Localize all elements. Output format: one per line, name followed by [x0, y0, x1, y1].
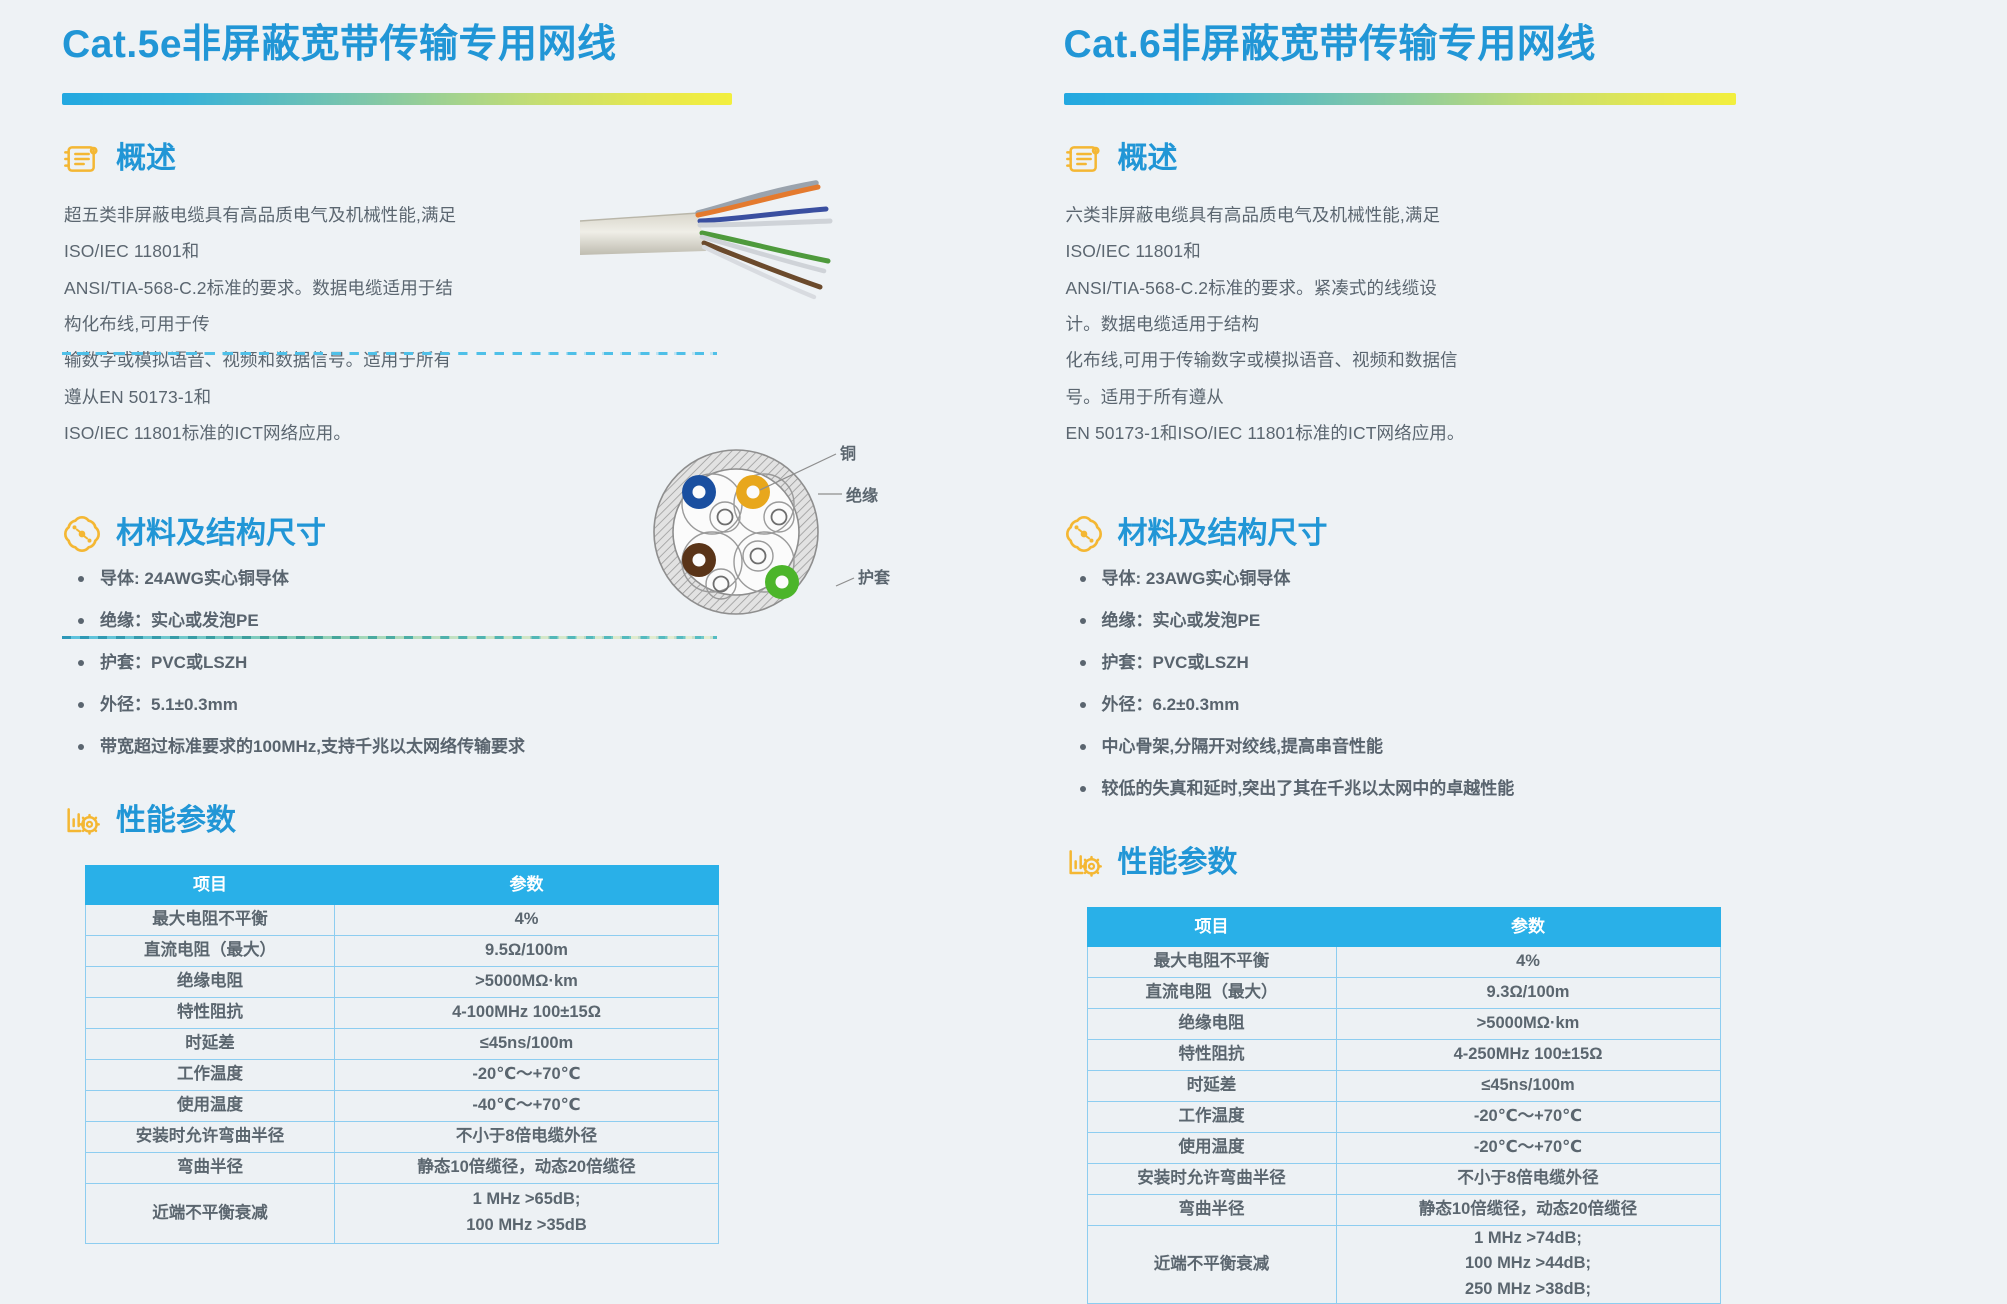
cell-item: 最大电阻不平衡 — [86, 904, 335, 935]
cell-value: 4% — [1336, 946, 1720, 977]
table-row: 工作温度 -20℃〜+70℃ — [86, 1059, 719, 1090]
cell-item: 使用温度 — [86, 1090, 335, 1121]
table-header-row: 项目 参数 — [86, 865, 719, 904]
molecule-icon — [62, 514, 102, 554]
cell-item: 直流电阻（最大） — [86, 935, 335, 966]
overview-line: ANSI/TIA-568-C.2标准的要求。数据电缆适用于结构化布线,可用于传 — [64, 270, 464, 343]
table-row: 弯曲半径 静态10倍缆径，动态20倍缆径 — [1087, 1194, 1720, 1225]
cell-item: 工作温度 — [86, 1059, 335, 1090]
list-item: 护套：PVC或LSZH — [1076, 654, 1968, 671]
cell-value: 1 MHz >65dB; 100 MHz >35dB — [335, 1183, 719, 1243]
cell-item: 时延差 — [86, 1028, 335, 1059]
overview-line: 超五类非屏蔽电缆具有高品质电气及机械性能,满足ISO/IEC 11801和 — [64, 197, 464, 270]
materials-title: 材料及结构尺寸 — [1118, 519, 1328, 549]
cell-value: 4-250MHz 100±15Ω — [1336, 1039, 1720, 1070]
overview-heading-row: 概述 — [1064, 139, 1968, 179]
cell-item: 弯曲半径 — [86, 1152, 335, 1183]
table-row: 直流电阻（最大） 9.5Ω/100m — [86, 935, 719, 966]
cell-value: 不小于8倍电缆外径 — [1336, 1163, 1720, 1194]
materials-section-cat6: 材料及结构尺寸 导体: 23AWG实心铜导体 绝缘：实心或发泡PE 护套：PVC… — [1064, 514, 1968, 797]
cell-item: 绝缘电阻 — [86, 966, 335, 997]
table-row: 特性阻抗 4-250MHz 100±15Ω — [1087, 1039, 1720, 1070]
section-divider-2 — [62, 636, 717, 639]
cell-value: 4% — [335, 904, 719, 935]
page-title-cat6: Cat.6非屏蔽宽带传输专用网线 — [1064, 22, 1968, 69]
cell-item: 特性阻抗 — [1087, 1039, 1336, 1070]
table-row: 使用温度 -20℃〜+70℃ — [1087, 1132, 1720, 1163]
cell-value-line: 250 MHz >38dB; — [1337, 1277, 1720, 1303]
table-row: 最大电阻不平衡 4% — [1087, 946, 1720, 977]
page-title-cat5e: Cat.5e非屏蔽宽带传输专用网线 — [62, 22, 964, 69]
overview-line: EN 50173-1和ISO/IEC 11801标准的ICT网络应用。 — [1066, 415, 1470, 451]
cell-value: -40℃〜+70℃ — [335, 1090, 719, 1121]
materials-bullet-list-cat6: 导体: 23AWG实心铜导体 绝缘：实心或发泡PE 护套：PVC或LSZH 外径… — [1076, 570, 1968, 797]
table-row: 时延差 ≤45ns/100m — [86, 1028, 719, 1059]
table-row: 绝缘电阻 >5000MΩ·km — [86, 966, 719, 997]
cell-value: 9.3Ω/100m — [1336, 977, 1720, 1008]
table-row: 近端不平衡衰减 1 MHz >65dB; 100 MHz >35dB — [86, 1183, 719, 1243]
materials-title: 材料及结构尺寸 — [116, 519, 326, 549]
cell-value: 1 MHz >74dB; 100 MHz >44dB; 250 MHz >38d… — [1336, 1225, 1720, 1303]
table-row: 绝缘电阻 >5000MΩ·km — [1087, 1008, 1720, 1039]
column-header-item: 项目 — [1087, 907, 1336, 946]
column-header-value: 参数 — [335, 865, 719, 904]
performance-heading-row: 性能参数 — [1064, 843, 1968, 883]
list-item: 绝缘：实心或发泡PE — [1076, 612, 1968, 629]
cell-value: ≤45ns/100m — [335, 1028, 719, 1059]
list-item: 较低的失真和延时,突出了其在千兆以太网中的卓越性能 — [1076, 780, 1968, 797]
cell-value: -20℃〜+70℃ — [1336, 1132, 1720, 1163]
cell-item: 直流电阻（最大） — [1087, 977, 1336, 1008]
overview-line: 化布线,可用于传输数字或模拟语音、视频和数据信号。适用于所有遵从 — [1066, 342, 1470, 415]
cell-item: 安装时允许弯曲半径 — [1087, 1163, 1336, 1194]
cell-value: ≤45ns/100m — [1336, 1070, 1720, 1101]
product-panel-cat6: Cat.6非屏蔽宽带传输专用网线 概述 六类非屏蔽电缆具有高品质电气及机械性能,… — [1004, 0, 2007, 1240]
cell-value: 不小于8倍电缆外径 — [335, 1121, 719, 1152]
chart-gear-icon — [62, 801, 102, 841]
spec-table-cat5e: 项目 参数 最大电阻不平衡 4% 直流电阻（最大） 9.5Ω/100m 绝缘电阻 — [85, 865, 719, 1244]
cell-item: 弯曲半径 — [1087, 1194, 1336, 1225]
cell-value: -20℃〜+70℃ — [1336, 1101, 1720, 1132]
cat5e-cross-section: 铜 绝缘 护套 — [640, 432, 940, 632]
datasheet-page: Cat.5e非屏蔽宽带传输专用网线 概述 超五类非屏蔽电缆具有高品质电气及机械性… — [0, 0, 2007, 1240]
list-item: 带宽超过标准要求的100MHz,支持千兆以太网络传输要求 — [74, 738, 964, 755]
label-jacket: 护套 — [858, 564, 890, 588]
table-row: 特性阻抗 4-100MHz 100±15Ω — [86, 997, 719, 1028]
title-gradient-rule — [62, 93, 732, 105]
cell-item: 安装时允许弯曲半径 — [86, 1121, 335, 1152]
overview-heading-row: 概述 — [62, 139, 964, 179]
performance-section-cat5e: 性能参数 项目 参数 最大电阻不平衡 4% 直流电阻（最大） — [62, 801, 964, 1244]
column-header-item: 项目 — [86, 865, 335, 904]
cell-value-line: 1 MHz >65dB; — [335, 1187, 718, 1213]
table-row: 直流电阻（最大） 9.3Ω/100m — [1087, 977, 1720, 1008]
performance-title: 性能参数 — [1118, 848, 1238, 878]
list-item: 外径：5.1±0.3mm — [74, 696, 964, 713]
cat5e-cable-photo — [580, 175, 900, 315]
cell-value-line: 1 MHz >74dB; — [1337, 1226, 1720, 1252]
table-header-row: 项目 参数 — [1087, 907, 1720, 946]
cell-value-line: 100 MHz >44dB; — [1337, 1251, 1720, 1277]
title-gradient-rule — [1064, 93, 1736, 105]
cell-item: 绝缘电阻 — [1087, 1008, 1336, 1039]
cell-value: 4-100MHz 100±15Ω — [335, 997, 719, 1028]
overview-paragraph-cat5e: 超五类非屏蔽电缆具有高品质电气及机械性能,满足ISO/IEC 11801和 AN… — [64, 197, 464, 452]
cell-item: 近端不平衡衰减 — [86, 1183, 335, 1243]
overview-line: ANSI/TIA-568-C.2标准的要求。紧凑式的线缆设计。数据电缆适用于结构 — [1066, 270, 1470, 343]
section-divider-1 — [62, 352, 717, 355]
document-list-icon — [62, 139, 102, 179]
cell-item: 工作温度 — [1087, 1101, 1336, 1132]
table-row: 工作温度 -20℃〜+70℃ — [1087, 1101, 1720, 1132]
cell-value: 9.5Ω/100m — [335, 935, 719, 966]
list-item: 中心骨架,分隔开对绞线,提高串音性能 — [1076, 738, 1968, 755]
overview-line: ISO/IEC 11801标准的ICT网络应用。 — [64, 415, 464, 451]
table-row: 近端不平衡衰减 1 MHz >74dB; 100 MHz >44dB; 250 … — [1087, 1225, 1720, 1303]
spec-table-cat6: 项目 参数 最大电阻不平衡 4% 直流电阻（最大） 9.3Ω/100m 绝缘电阻 — [1087, 907, 1721, 1304]
performance-section-cat6: 性能参数 项目 参数 最大电阻不平衡 4% 直流电阻（最大） — [1064, 843, 1968, 1304]
table-row: 使用温度 -40℃〜+70℃ — [86, 1090, 719, 1121]
overview-title: 概述 — [1118, 144, 1178, 174]
cell-value: 静态10倍缆径，动态20倍缆径 — [1336, 1194, 1720, 1225]
column-header-value: 参数 — [1336, 907, 1720, 946]
overview-title: 概述 — [116, 144, 176, 174]
cell-value: 静态10倍缆径，动态20倍缆径 — [335, 1152, 719, 1183]
cell-value-line: 100 MHz >35dB — [335, 1213, 718, 1239]
table-row: 最大电阻不平衡 4% — [86, 904, 719, 935]
cell-value: -20℃〜+70℃ — [335, 1059, 719, 1090]
cell-item: 最大电阻不平衡 — [1087, 946, 1336, 977]
label-insulation: 绝缘 — [846, 482, 878, 506]
cell-item: 特性阻抗 — [86, 997, 335, 1028]
list-item: 导体: 23AWG实心铜导体 — [1076, 570, 1968, 587]
overview-line: 六类非屏蔽电缆具有高品质电气及机械性能,满足ISO/IEC 11801和 — [1066, 197, 1470, 270]
table-row: 安装时允许弯曲半径 不小于8倍电缆外径 — [1087, 1163, 1720, 1194]
list-item: 护套：PVC或LSZH — [74, 654, 964, 671]
cell-value: >5000MΩ·km — [335, 966, 719, 997]
table-row: 安装时允许弯曲半径 不小于8倍电缆外径 — [86, 1121, 719, 1152]
table-row: 时延差 ≤45ns/100m — [1087, 1070, 1720, 1101]
performance-heading-row: 性能参数 — [62, 801, 964, 841]
molecule-icon — [1064, 514, 1104, 554]
performance-title: 性能参数 — [116, 806, 236, 836]
product-panel-cat5e: Cat.5e非屏蔽宽带传输专用网线 概述 超五类非屏蔽电缆具有高品质电气及机械性… — [0, 0, 1004, 1240]
document-list-icon — [1064, 139, 1104, 179]
cell-value: >5000MΩ·km — [1336, 1008, 1720, 1039]
materials-heading-row: 材料及结构尺寸 — [1064, 514, 1968, 554]
chart-gear-icon — [1064, 843, 1104, 883]
cell-item: 使用温度 — [1087, 1132, 1336, 1163]
list-item: 外径：6.2±0.3mm — [1076, 696, 1968, 713]
overview-paragraph-cat6: 六类非屏蔽电缆具有高品质电气及机械性能,满足ISO/IEC 11801和 ANS… — [1066, 197, 1470, 452]
label-copper: 铜 — [840, 440, 856, 464]
cell-item: 时延差 — [1087, 1070, 1336, 1101]
overview-section-cat6: 概述 六类非屏蔽电缆具有高品质电气及机械性能,满足ISO/IEC 11801和 … — [1064, 139, 1968, 452]
table-row: 弯曲半径 静态10倍缆径，动态20倍缆径 — [86, 1152, 719, 1183]
cell-item: 近端不平衡衰减 — [1087, 1225, 1336, 1303]
